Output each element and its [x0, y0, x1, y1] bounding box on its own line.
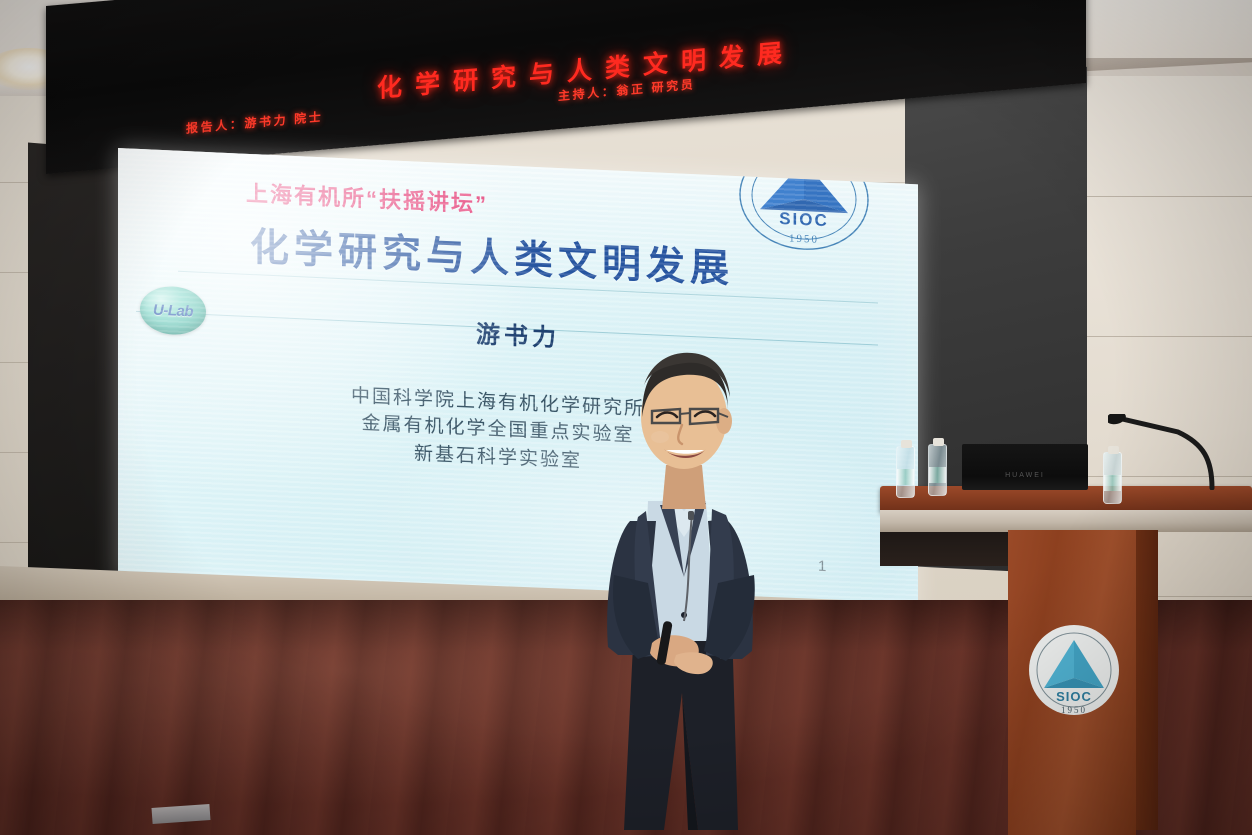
gooseneck-microphone-icon: [1108, 414, 1218, 490]
podium-sioc-emblem-icon: SIOC 1950: [1026, 622, 1122, 718]
water-bottle: [928, 444, 947, 496]
ulab-logo-text: U-Lab: [153, 301, 193, 320]
slide-page-number: 1: [818, 558, 826, 575]
svg-text:SIOC: SIOC: [1056, 689, 1092, 704]
podium-side-face: [1136, 530, 1158, 830]
podium-column: SIOC 1950: [1008, 530, 1136, 835]
slide-forum-label: 上海有机所“扶摇讲坛”: [246, 176, 488, 219]
svg-text:1950: 1950: [1061, 705, 1087, 715]
podium-front-lip: [880, 510, 1252, 532]
laptop-device[interactable]: HUAWEI: [962, 444, 1088, 490]
presenter-person: [556, 325, 816, 835]
laptop-brand-label: HUAWEI: [962, 472, 1088, 479]
water-bottle: [896, 446, 915, 498]
lecture-hall-photo: 化学研究与人类文明发展 报告人：游书力 院士 主持人：翁正 研究员 上海有机所“…: [0, 0, 1252, 835]
svg-text:SIOC: SIOC: [779, 209, 829, 230]
svg-text:1950: 1950: [789, 232, 819, 245]
podium-shadow: [880, 530, 1008, 566]
wall-upper-band: [1060, 0, 1252, 58]
